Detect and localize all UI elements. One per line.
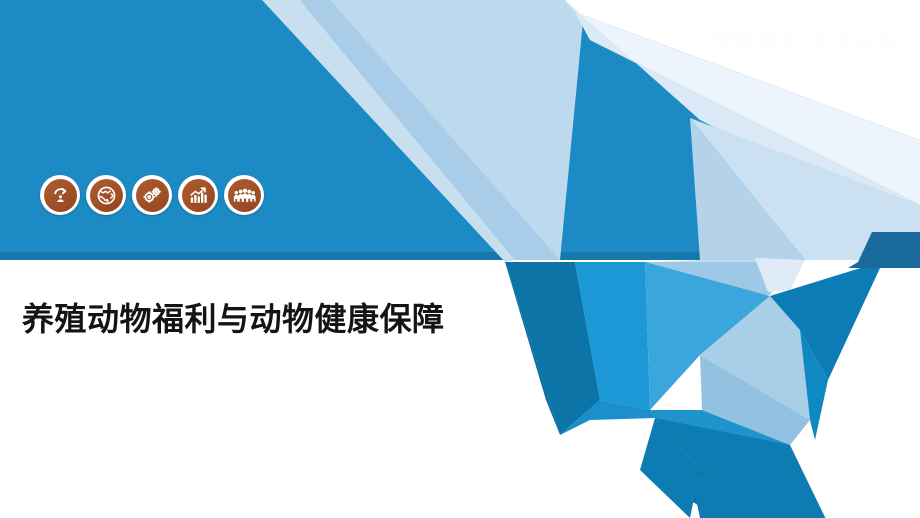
bar-chart-growth-icon: [182, 179, 215, 212]
icon-row: [40, 175, 264, 215]
icon-badge-4[interactable]: [178, 175, 218, 215]
header-tagline: 数智创新 变革未来: [714, 24, 898, 54]
people-group-icon: [228, 179, 261, 212]
icon-badge-5[interactable]: [224, 175, 264, 215]
background-polygon-art: [0, 0, 920, 518]
page-title: 养殖动物福利与动物健康保障: [22, 296, 532, 343]
gears-icon: [136, 179, 169, 212]
globe-icon: [90, 179, 123, 212]
recycle-people-icon: [44, 179, 77, 212]
shape-navy-corner-b: [848, 262, 920, 268]
icon-badge-1[interactable]: [40, 175, 80, 215]
icon-badge-3[interactable]: [132, 175, 172, 215]
icon-badge-2[interactable]: [86, 175, 126, 215]
slide-canvas: 数智创新 变革未来: [0, 0, 920, 518]
